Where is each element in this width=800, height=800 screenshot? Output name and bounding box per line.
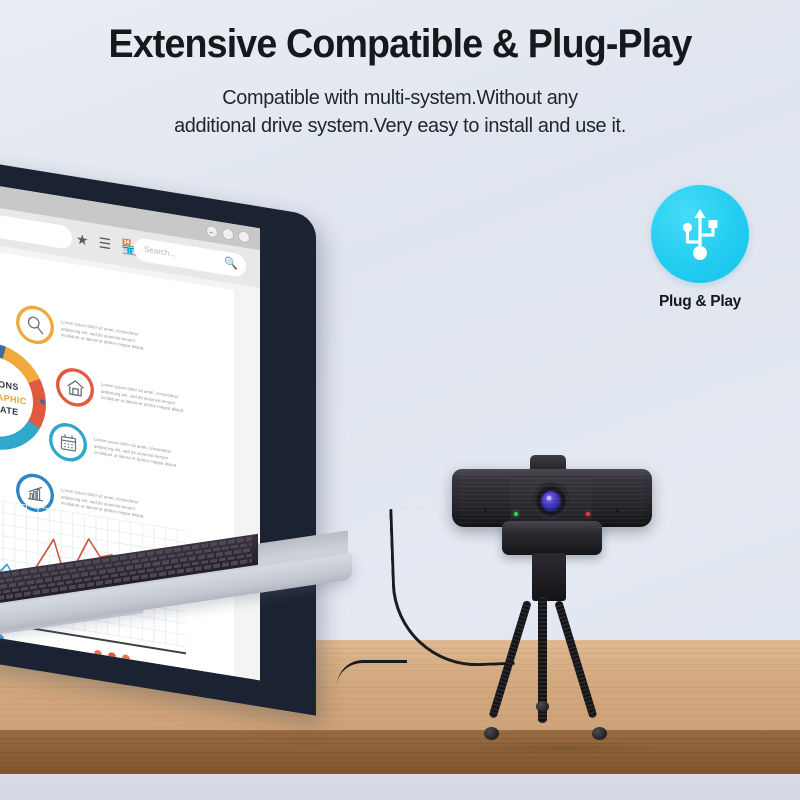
- hub-text: 4 OPTIONS INFOGRAPHIC TEMPLATE: [0, 335, 46, 458]
- magnifier-icon[interactable]: 🔍: [224, 256, 238, 271]
- option-1-text: Lorem ipsum dolor sit amet, consectetur …: [61, 319, 149, 354]
- laptop: ← ★ ☰ 🏪 Search... 🔍: [0, 158, 380, 678]
- webcam-privacy-cover: [502, 521, 602, 555]
- page-subtitle: Compatible with multi-system.Without any…: [0, 84, 800, 140]
- magnifier-icon: [16, 303, 54, 347]
- infographic-option-3: Lorem ipsum dolor sit amet, consectetur …: [49, 420, 182, 480]
- tripod-leg-right: [554, 600, 597, 719]
- subtitle-line-2: additional drive system.Very easy to ins…: [12, 112, 788, 140]
- webcam-product: [452, 455, 662, 755]
- tripod-foot-center: [536, 701, 549, 712]
- subtitle-line-1: Compatible with multi-system.Without any: [12, 84, 788, 112]
- option-2-text: Lorem ipsum dolor sit amet, consectetur …: [101, 381, 189, 416]
- desk-edge: [0, 730, 800, 774]
- house-icon: [56, 365, 94, 409]
- infographic-option-2: Lorem ipsum dolor sit amet, consectetur …: [56, 365, 189, 425]
- calendar-icon: [49, 420, 87, 464]
- laptop-base: [0, 588, 362, 646]
- window-control-minimize[interactable]: [222, 227, 234, 241]
- usb-icon: [651, 185, 749, 283]
- usb-cable-tail: [337, 660, 407, 686]
- window-control-back[interactable]: ←: [206, 225, 218, 239]
- background-floor: [0, 774, 800, 800]
- hamburger-menu-icon[interactable]: ☰: [99, 235, 112, 251]
- tripod-foot-right: [592, 727, 607, 740]
- product-marketing-image: Extensive Compatible & Plug-Play Compati…: [0, 0, 800, 800]
- window-control-back-glyph: ←: [208, 226, 216, 236]
- search-placeholder: Search...: [144, 245, 176, 259]
- tripod-foot-left: [484, 727, 499, 740]
- window-control-maximize[interactable]: [238, 230, 250, 244]
- infographic-hub: 4 OPTIONS INFOGRAPHIC TEMPLATE: [0, 335, 46, 458]
- star-icon[interactable]: ★: [76, 232, 89, 248]
- plug-and-play-label: Plug & Play: [648, 293, 752, 311]
- page-title: Extensive Compatible & Plug-Play: [24, 22, 776, 67]
- plug-and-play-badge: Plug & Play: [648, 185, 752, 311]
- webcam-body: [452, 469, 652, 527]
- webcam-mount-neck: [532, 553, 566, 601]
- option-3-text: Lorem ipsum dolor sit amet, consectetur …: [94, 436, 182, 471]
